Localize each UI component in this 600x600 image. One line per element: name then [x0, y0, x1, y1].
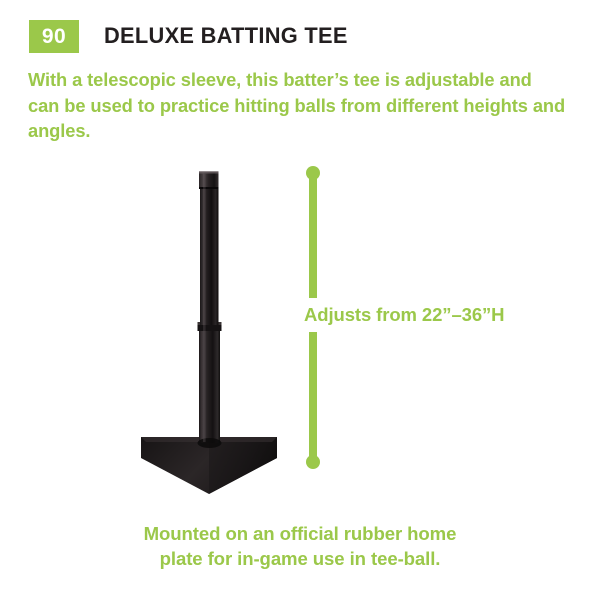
- page-title: DELUXE BATTING TEE: [104, 25, 348, 48]
- upper-tube: [200, 185, 219, 325]
- measurement-dot-top: [306, 166, 320, 180]
- top-tube-cap-rim: [199, 171, 219, 174]
- item-number-badge: 90: [29, 20, 79, 53]
- product-caption: Mounted on an official rubber home plate…: [60, 521, 540, 571]
- top-tube-cap-seam: [199, 187, 219, 189]
- product-callout-page: 90 DELUXE BATTING TEE With a telescopic …: [0, 0, 600, 600]
- measurement-label: Adjusts from 22”–36”H: [296, 298, 510, 332]
- tube-base-shadow: [198, 438, 222, 448]
- tube-highlight: [203, 174, 206, 442]
- header: 90 DELUXE BATTING TEE: [29, 19, 355, 53]
- top-tube-cap: [199, 172, 219, 188]
- caption-line-1: Mounted on an official rubber home: [60, 521, 540, 546]
- lower-tube: [199, 328, 220, 443]
- product-description: With a telescopic sleeve, this batter’s …: [28, 67, 568, 144]
- caption-line-2: plate for in-game use in tee-ball.: [60, 546, 540, 571]
- measurement-dot-bottom: [306, 455, 320, 469]
